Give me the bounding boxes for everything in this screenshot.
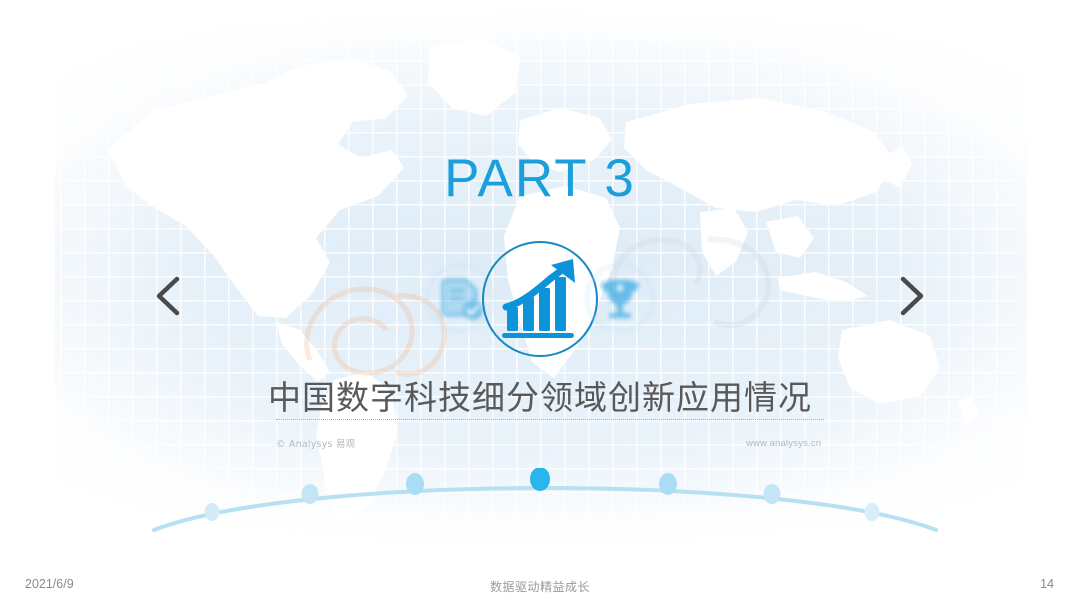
progress-dot[interactable] bbox=[205, 503, 220, 521]
progress-arc bbox=[150, 468, 940, 538]
footer-slogan: 数据驱动精益成长 bbox=[0, 578, 1080, 595]
page-subtitle: 中国数字科技细分领域创新应用情况 bbox=[0, 371, 1080, 419]
progress-dot[interactable] bbox=[865, 503, 880, 521]
progress-arc-line bbox=[154, 488, 936, 530]
slide-root: PART 3 bbox=[0, 0, 1080, 608]
footer-page-number: 14 bbox=[1040, 577, 1054, 591]
progress-dot[interactable] bbox=[406, 473, 424, 495]
page-title: PART 3 bbox=[0, 148, 1080, 209]
progress-dots bbox=[205, 468, 880, 521]
trophy-icon bbox=[582, 260, 658, 336]
next-slide-button[interactable] bbox=[888, 273, 932, 319]
icon-cluster bbox=[415, 233, 665, 365]
copyright-label: © Analysys 易观 bbox=[276, 436, 355, 450]
progress-dot-active[interactable] bbox=[530, 468, 550, 491]
progress-dot[interactable] bbox=[302, 484, 319, 504]
dotted-divider bbox=[276, 419, 824, 420]
prev-slide-button[interactable] bbox=[148, 273, 192, 319]
website-label[interactable]: www.analysys.cn bbox=[746, 438, 821, 449]
progress-dot[interactable] bbox=[659, 473, 677, 495]
chevron-right-icon[interactable] bbox=[888, 273, 932, 319]
progress-dot[interactable] bbox=[764, 484, 781, 504]
chevron-left-icon[interactable] bbox=[148, 273, 192, 319]
